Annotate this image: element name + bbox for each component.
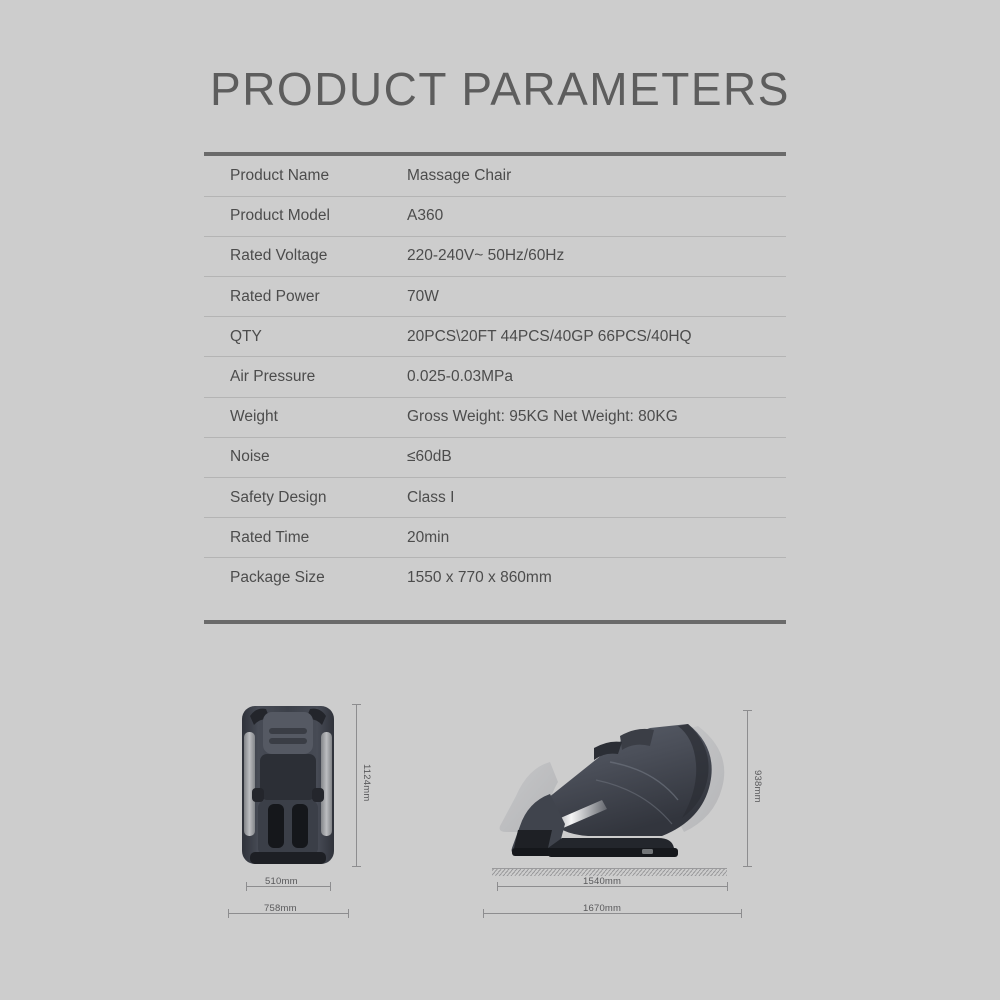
- spec-value: Gross Weight: 95KG Net Weight: 80KG: [405, 397, 786, 437]
- table-row: WeightGross Weight: 95KG Net Weight: 80K…: [204, 397, 786, 437]
- table-row: Air Pressure0.025-0.03MPa: [204, 357, 786, 397]
- spec-value: 20min: [405, 518, 786, 558]
- table-bottom-spacer: [204, 598, 786, 620]
- spec-value: A360: [405, 196, 786, 236]
- spec-label: Safety Design: [204, 478, 405, 518]
- side-outer-length-tick-right: [741, 909, 742, 918]
- dimension-diagrams: 1124mm 510mm 758mm: [0, 690, 1000, 940]
- spec-label: QTY: [204, 317, 405, 357]
- front-inner-width-tick-left: [246, 882, 247, 891]
- side-height-tick-bottom: [743, 866, 752, 867]
- spec-label: Product Model: [204, 196, 405, 236]
- spec-table: Product NameMassage ChairProduct ModelA3…: [204, 156, 786, 598]
- side-height-dimension-line: [747, 710, 748, 866]
- spec-label: Rated Power: [204, 277, 405, 317]
- front-outer-width-tick-left: [228, 909, 229, 918]
- table-row: Safety DesignClass I: [204, 478, 786, 518]
- side-inner-length-label: 1540mm: [583, 876, 621, 887]
- spec-value: 20PCS\20FT 44PCS/40GP 66PCS/40HQ: [405, 317, 786, 357]
- page-title: PRODUCT PARAMETERS: [0, 62, 1000, 116]
- front-height-dimension-line: [356, 704, 357, 866]
- front-outer-width-label: 758mm: [264, 903, 297, 914]
- front-height-label: 1124mm: [361, 764, 372, 801]
- spec-label: Package Size: [204, 558, 405, 598]
- spec-value: 0.025-0.03MPa: [405, 357, 786, 397]
- floor-hatch-line: [492, 868, 727, 876]
- spec-value: 70W: [405, 277, 786, 317]
- table-row: Rated Voltage220-240V~ 50Hz/60Hz: [204, 236, 786, 276]
- table-row: Package Size1550 x 770 x 860mm: [204, 558, 786, 598]
- front-height-tick-bottom: [352, 866, 361, 867]
- spec-label: Rated Time: [204, 518, 405, 558]
- table-row: Product NameMassage Chair: [204, 156, 786, 196]
- spec-label: Noise: [204, 437, 405, 477]
- table-row: Noise≤60dB: [204, 437, 786, 477]
- chair-side-view-image: [492, 708, 732, 868]
- side-outer-length-label: 1670mm: [583, 903, 621, 914]
- front-inner-width-tick-right: [330, 882, 331, 891]
- spec-label: Rated Voltage: [204, 236, 405, 276]
- side-inner-length-tick-left: [497, 882, 498, 891]
- front-height-tick-top: [352, 704, 361, 705]
- table-row: QTY20PCS\20FT 44PCS/40GP 66PCS/40HQ: [204, 317, 786, 357]
- table-bottom-rule: [204, 620, 786, 624]
- spec-value: Massage Chair: [405, 156, 786, 196]
- table-row: Rated Power70W: [204, 277, 786, 317]
- spec-table-container: Product NameMassage ChairProduct ModelA3…: [204, 152, 786, 624]
- spec-label: Air Pressure: [204, 357, 405, 397]
- side-height-label: 938mm: [752, 770, 763, 803]
- front-outer-width-tick-right: [348, 909, 349, 918]
- side-height-tick-top: [743, 710, 752, 711]
- side-inner-length-tick-right: [727, 882, 728, 891]
- spec-value: ≤60dB: [405, 437, 786, 477]
- spec-value: 1550 x 770 x 860mm: [405, 558, 786, 598]
- table-row: Rated Time20min: [204, 518, 786, 558]
- side-outer-length-tick-left: [483, 909, 484, 918]
- spec-value: 220-240V~ 50Hz/60Hz: [405, 236, 786, 276]
- table-row: Product ModelA360: [204, 196, 786, 236]
- front-inner-width-label: 510mm: [265, 876, 298, 887]
- chair-front-view-image: [236, 702, 340, 867]
- product-parameters-page: PRODUCT PARAMETERS Product NameMassage C…: [0, 0, 1000, 1000]
- spec-value: Class I: [405, 478, 786, 518]
- spec-label: Product Name: [204, 156, 405, 196]
- spec-label: Weight: [204, 397, 405, 437]
